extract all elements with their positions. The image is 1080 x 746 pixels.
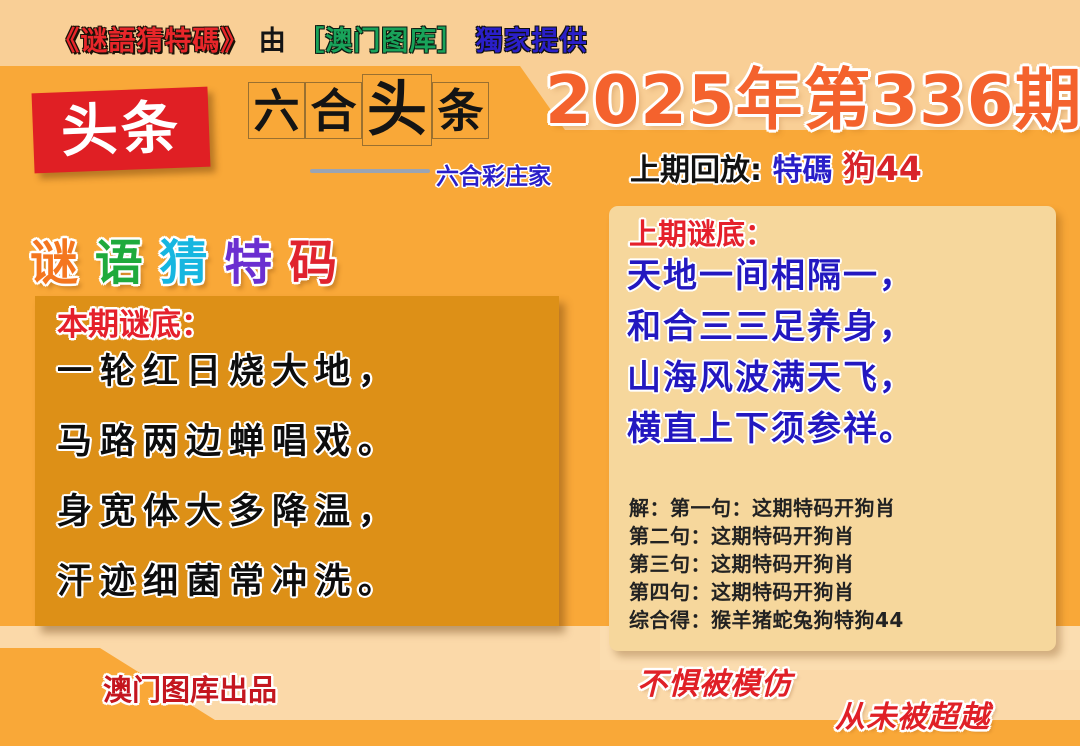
current-riddle-card: 本期谜底： 一轮红日烧大地， 马路两边蝉唱戏。 身宽体大多降温， 汗迹细菌常冲洗… xyxy=(35,296,559,626)
logo-badge-label: 头条 xyxy=(60,99,182,161)
previous-verse-line: 天地一间相隔一， xyxy=(627,259,1047,293)
headline-part-title: 《谜語猜特碼》 xyxy=(52,19,248,58)
riddle-heading-char-2: 猜 xyxy=(159,235,207,291)
current-verse-line: 汗迹细菌常冲洗。 xyxy=(57,565,547,600)
grid-title-cell-3: 条 xyxy=(432,82,489,139)
previous-riddle-card: 上期谜底： 天地一间相隔一， 和合三三足养身， 山海风波满天飞， 横直上下须参祥… xyxy=(609,206,1056,651)
previous-result-label: 上期回放: xyxy=(630,153,762,188)
headline-part-source: ［澳门图库］ xyxy=(297,19,465,58)
headline: 《谜語猜特碼》 由 ［澳门图库］ 獨家提供 xyxy=(0,19,640,55)
current-verse-line: 马路两边蝉唱戏。 xyxy=(57,425,547,460)
explanation-line: 解：第一句：这期特码开狗肖 xyxy=(629,494,1044,522)
previous-result-line: 上期回放: 特碼 狗44 xyxy=(630,152,922,186)
explanation-line: 第三句：这期特码开狗肖 xyxy=(629,550,1044,578)
slogan-not-afraid: 不惧被模仿 xyxy=(637,670,792,700)
current-verse-line: 一轮红日烧大地， xyxy=(57,355,547,390)
headline-part-by: 由 xyxy=(259,19,287,58)
previous-verse-line: 山海风波满天飞， xyxy=(627,361,1047,395)
previous-result-special-label: 特碼 xyxy=(772,153,832,188)
explanation-line: 第二句：这期特码开狗肖 xyxy=(629,522,1044,550)
divider-line xyxy=(310,169,430,173)
previous-riddle-card-title: 上期谜底： xyxy=(629,220,774,249)
headline-part-exclusive: 獨家提供 xyxy=(476,19,588,58)
riddle-heading-char-1: 语 xyxy=(95,235,143,291)
riddle-heading-char-0: 谜 xyxy=(30,235,78,291)
previous-result-special-value: 狗44 xyxy=(843,149,922,188)
poster-canvas: 《谜語猜特碼》 由 ［澳门图库］ 獨家提供 头条 六 合 头 条 六合彩庄家 2… xyxy=(0,0,1080,746)
previous-verse-line: 横直上下须参祥。 xyxy=(627,412,1047,446)
previous-verse-line: 和合三三足养身， xyxy=(627,310,1047,344)
riddle-heading: 谜 语 猜 特 码 xyxy=(30,239,337,287)
producer-label: 澳门图库出品 xyxy=(103,676,277,705)
grid-title: 六 合 头 条 xyxy=(248,82,489,146)
explanation-line: 综合得：猴羊猪蛇兔狗特狗44 xyxy=(629,606,1044,634)
explanation-block: 解：第一句：这期特码开狗肖 第二句：这期特码开狗肖 第三句：这期特码开狗肖 第四… xyxy=(629,494,1044,634)
grid-title-cell-0: 六 xyxy=(248,82,305,139)
current-verse-line: 身宽体大多降温， xyxy=(57,495,547,530)
grid-title-cell-2: 头 xyxy=(362,74,432,146)
logo-badge: 头条 xyxy=(32,87,211,174)
current-riddle-card-title: 本期谜底： xyxy=(57,310,212,341)
riddle-heading-char-3: 特 xyxy=(224,235,272,291)
grid-title-cell-1: 合 xyxy=(305,82,362,139)
explanation-line: 第四句：这期特码开狗肖 xyxy=(629,578,1044,606)
issue-title: 2025年第336期 xyxy=(545,62,1045,139)
divider-brand-label: 六合彩庄家 xyxy=(436,157,551,191)
riddle-heading-char-4: 码 xyxy=(289,235,337,291)
slogan-never-surpassed: 从未被超越 xyxy=(835,703,990,733)
